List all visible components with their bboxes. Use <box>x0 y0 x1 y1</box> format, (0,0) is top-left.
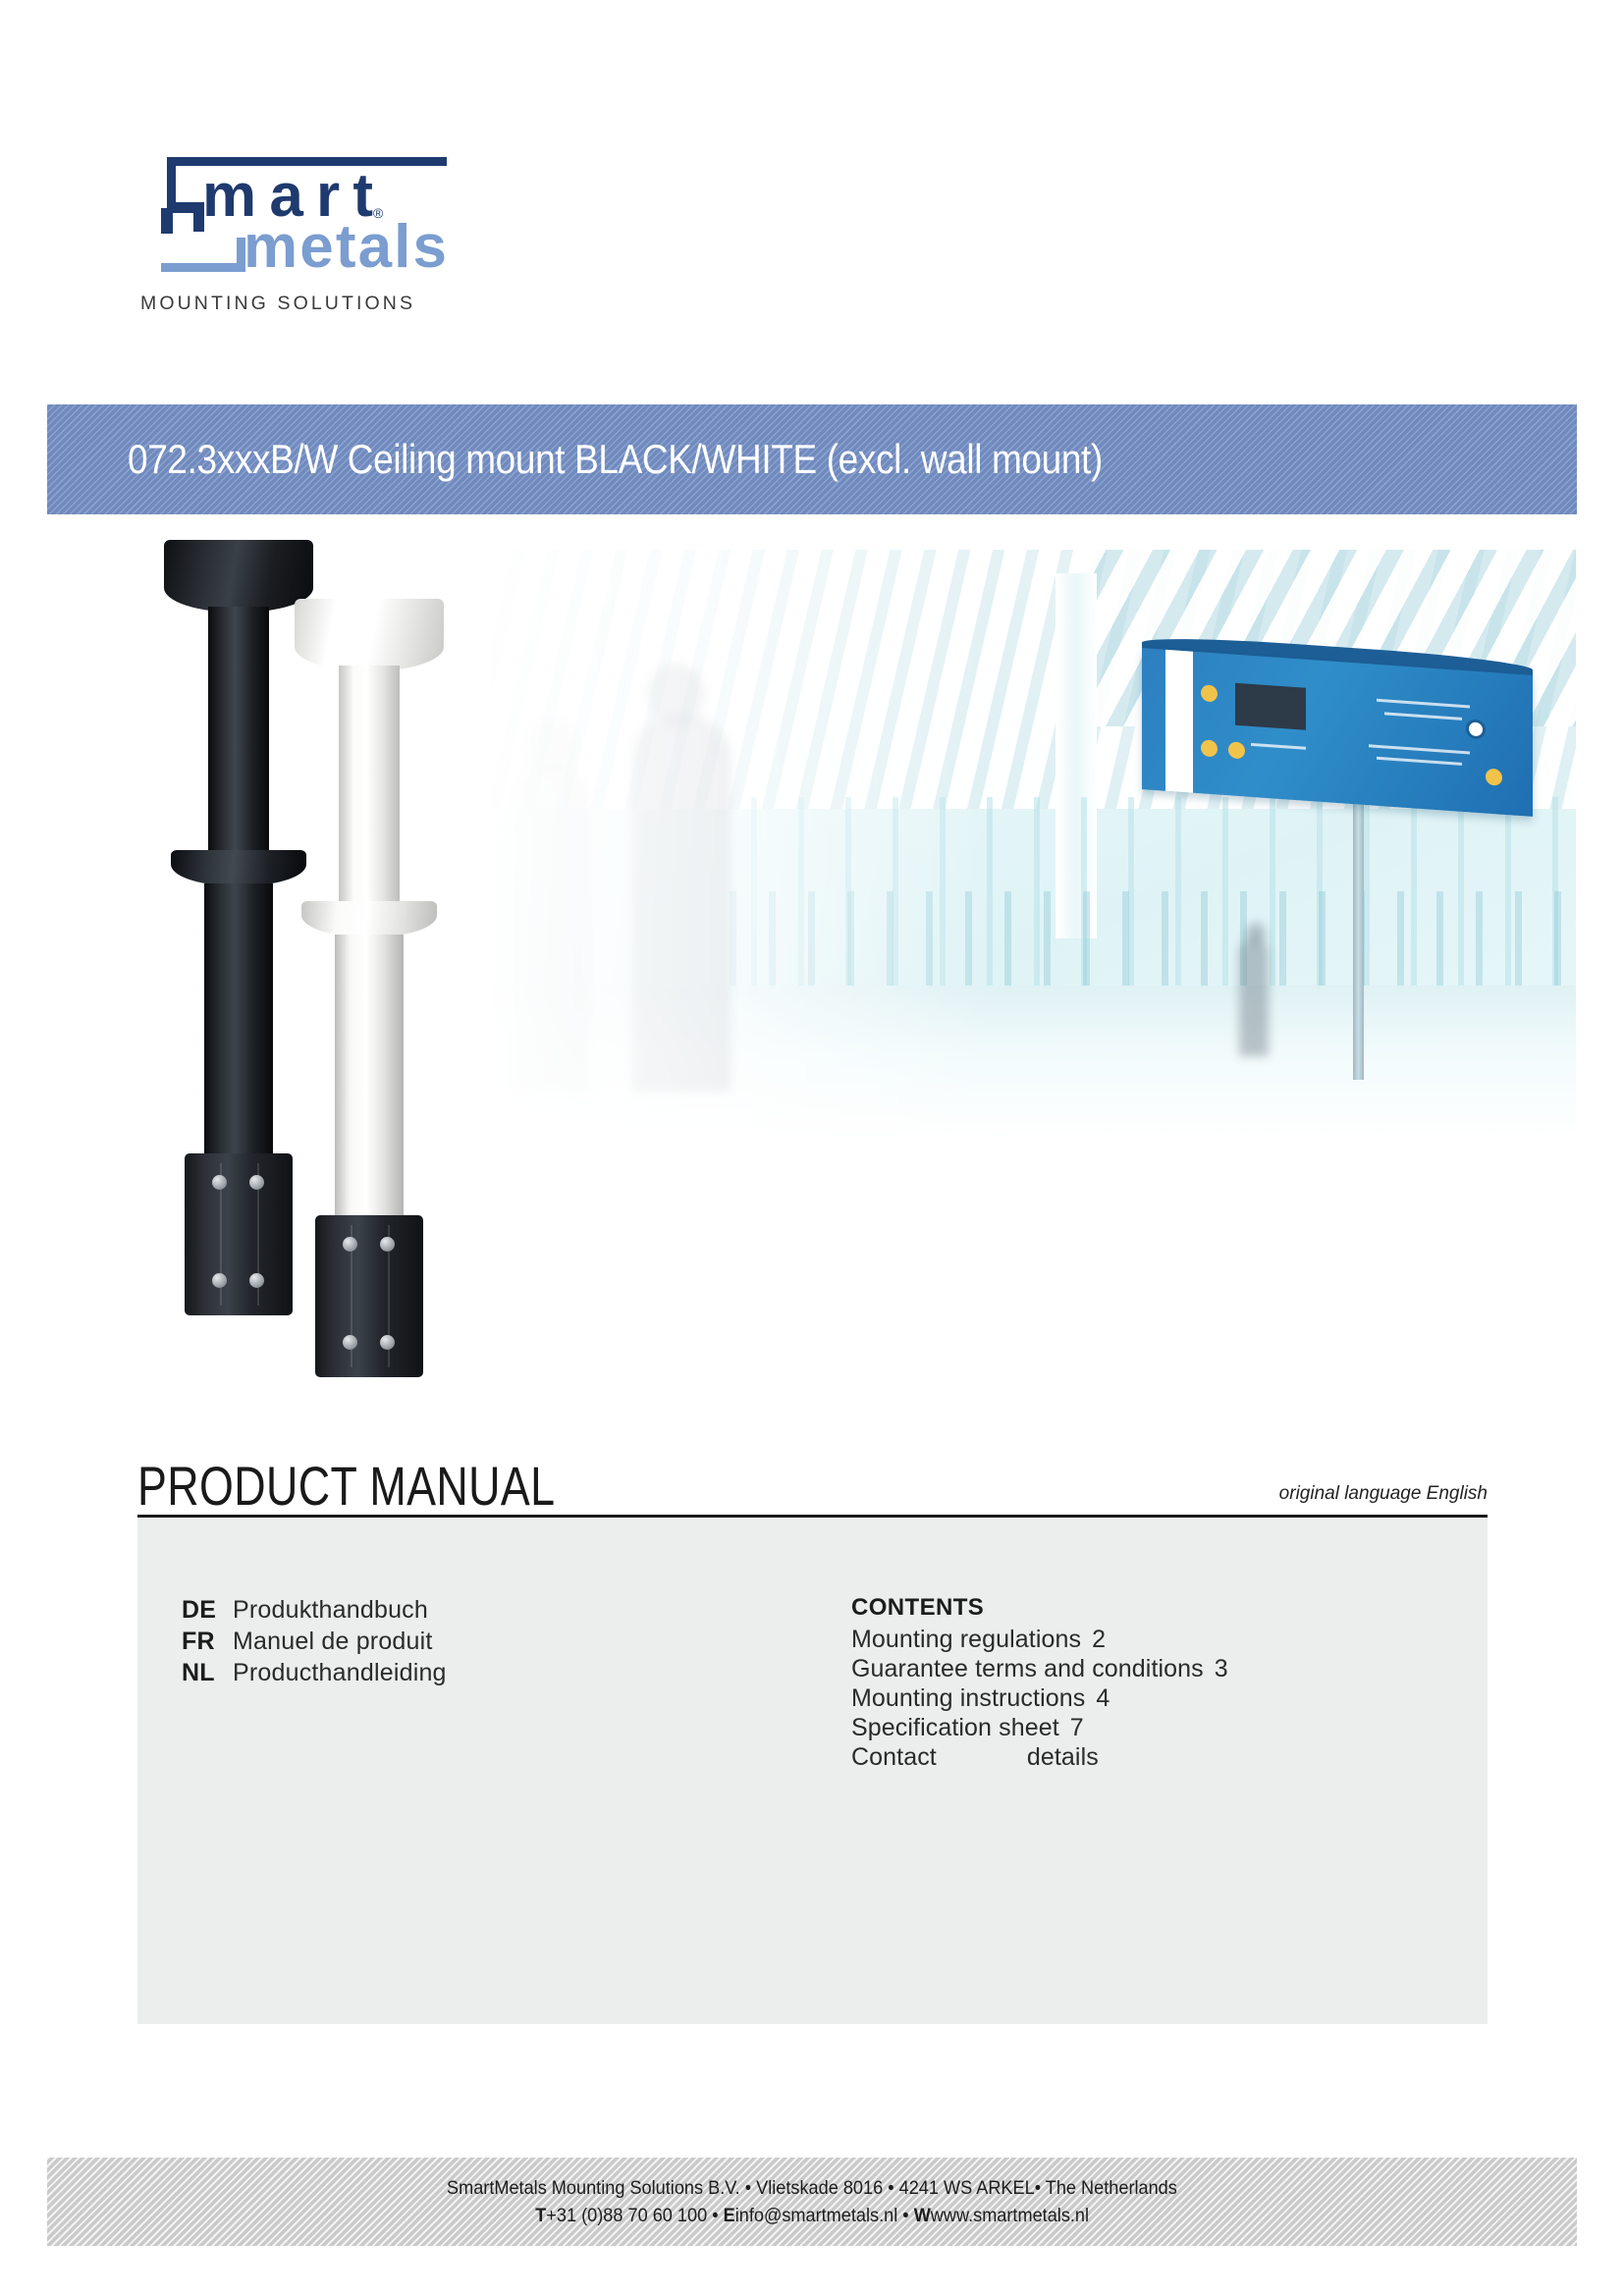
contents-list: CONTENTS Mounting regulations 2 Guarante… <box>851 1594 1228 1773</box>
photo-fade-overlay <box>491 550 990 1139</box>
logo-mark-icon: mart ® metals <box>137 147 461 294</box>
bracket-bolt <box>343 1237 357 1252</box>
photo-silhouette-head <box>1246 923 1266 944</box>
list-item: Mounting instructions 4 <box>851 1684 1228 1713</box>
list-item: Mounting regulations 2 <box>851 1626 1228 1654</box>
footer-separator: • <box>712 2205 718 2226</box>
application-photo <box>491 550 1576 1139</box>
page-footer: SmartMetals Mounting Solutions B.V. • Vl… <box>47 2158 1577 2246</box>
footer-divider <box>47 2248 1577 2251</box>
smartmetals-logo: mart ® metals MOUNTING SOLUTIONS <box>137 147 461 324</box>
language-title: Producthandleiding <box>233 1659 447 1687</box>
photo-sign-dot <box>1228 741 1245 759</box>
upper-tube-white <box>339 666 400 921</box>
bracket-bolt <box>212 1175 227 1190</box>
language-code: DE <box>182 1596 233 1625</box>
contents-item-label: Contact <box>851 1743 937 1772</box>
list-item: NL Producthandleiding <box>182 1659 447 1687</box>
contents-item-page: details <box>1027 1743 1099 1772</box>
contents-item-page: 2 <box>1092 1626 1106 1654</box>
lower-tube-white <box>335 934 404 1229</box>
footer-web-label: W <box>914 2205 931 2226</box>
footer-address: SmartMetals Mounting Solutions B.V. • Vl… <box>447 2177 1177 2200</box>
logo-tagline: MOUNTING SOLUTIONS <box>140 293 415 315</box>
language-code: FR <box>182 1628 233 1656</box>
contents-item-label: Mounting instructions <box>851 1684 1085 1713</box>
contents-item-page: 7 <box>1070 1714 1084 1742</box>
photo-sign-dot <box>1486 768 1502 785</box>
contents-item-label: Guarantee terms and conditions <box>851 1655 1204 1683</box>
photo-silhouette-traveller <box>1239 938 1269 1056</box>
product-title: 072.3xxxB/W Ceiling mount BLACK/WHITE (e… <box>128 436 1103 483</box>
bracket-bolt <box>380 1335 395 1350</box>
photo-sign-text <box>1377 698 1470 708</box>
footer-phone-label: T <box>535 2205 546 2226</box>
wall-bracket-white-version <box>315 1215 423 1377</box>
svg-text:metals: metals <box>244 213 445 281</box>
wall-bracket-black <box>185 1153 293 1315</box>
list-item: FR Manuel de produit <box>182 1628 447 1656</box>
language-title: Produkthandbuch <box>233 1596 428 1625</box>
bracket-bolt <box>212 1273 227 1288</box>
photo-sign-dot <box>1201 740 1218 758</box>
photo-sign-text <box>1251 743 1306 750</box>
language-list: DE Produkthandbuch FR Manuel de produit … <box>182 1596 447 1690</box>
product-manual-cover-page: mart ® metals MOUNTING SOLUTIONS 072.3xx… <box>0 0 1624 2296</box>
language-code: NL <box>182 1659 233 1687</box>
upper-tube-black <box>208 607 269 872</box>
photo-sign-dot <box>1201 684 1218 702</box>
language-title: Manuel de produit <box>233 1628 433 1656</box>
bracket-bolt <box>249 1273 264 1288</box>
ceiling-plate-white <box>295 599 444 671</box>
contents-item-page: 4 <box>1096 1684 1110 1713</box>
photo-sign-text <box>1369 744 1470 754</box>
photo-sign-text <box>1377 756 1463 765</box>
lower-tube-black <box>204 883 273 1168</box>
page-title: PRODUCT MANUAL <box>137 1454 555 1518</box>
list-item: Contact details <box>851 1743 1228 1772</box>
list-item: Specification sheet 7 <box>851 1714 1228 1742</box>
photo-sign-pole <box>1353 785 1364 1080</box>
photo-sign-strip <box>1165 650 1193 793</box>
bracket-bolt <box>380 1237 395 1252</box>
photo-sign-panel <box>1142 648 1533 817</box>
photo-sign-display <box>1235 683 1306 730</box>
list-item: Guarantee terms and conditions 3 <box>851 1655 1228 1683</box>
tube-flange-white <box>301 901 437 936</box>
footer-website[interactable]: www.smartmetals.nl <box>931 2205 1089 2226</box>
bracket-bolt <box>249 1175 264 1190</box>
photo-sign-text <box>1384 712 1463 721</box>
footer-phone: +31 (0)88 70 60 100 <box>546 2205 707 2226</box>
contents-item-label: Mounting regulations <box>851 1626 1081 1654</box>
contents-item-label: Specification sheet <box>851 1714 1059 1742</box>
product-title-banner: 072.3xxxB/W Ceiling mount BLACK/WHITE (e… <box>47 404 1577 514</box>
contents-item-page: 3 <box>1215 1655 1228 1683</box>
footer-separator: • <box>902 2205 908 2226</box>
list-item: DE Produkthandbuch <box>182 1596 447 1625</box>
ceiling-mount-white-render <box>286 579 453 1364</box>
hero-section <box>47 520 1577 1374</box>
original-language-note: original language English <box>1279 1483 1488 1505</box>
footer-email[interactable]: info@smartmetals.nl <box>735 2205 898 2226</box>
footer-contact: T+31 (0)88 70 60 100 • Einfo@smartmetals… <box>535 2205 1089 2227</box>
contents-heading: CONTENTS <box>851 1594 1228 1622</box>
product-manual-header: PRODUCT MANUAL original language English <box>137 1443 1488 1522</box>
footer-email-label: E <box>723 2205 734 2226</box>
photo-sign-arrow-badge <box>1466 719 1486 739</box>
bracket-bolt <box>343 1335 357 1350</box>
manual-info-box: DE Produkthandbuch FR Manuel de produit … <box>137 1518 1488 2024</box>
